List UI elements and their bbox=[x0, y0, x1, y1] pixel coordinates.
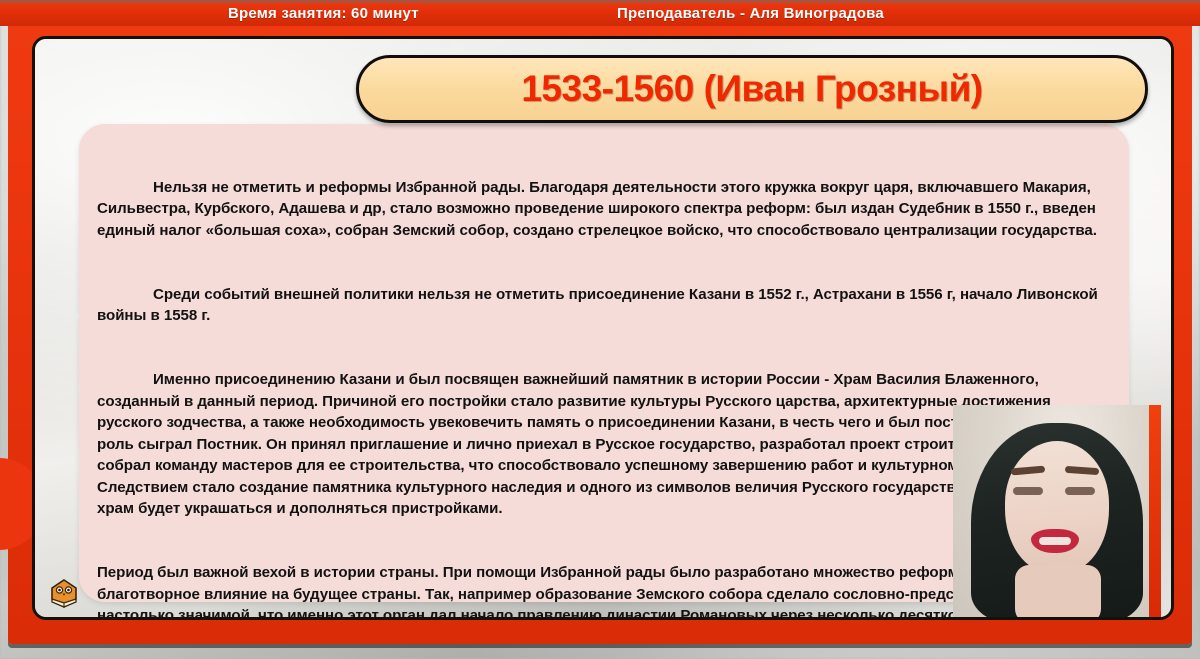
paragraph-2: Среди событий внешней политики нельзя не… bbox=[97, 284, 1113, 327]
presenter-eye-right bbox=[1065, 487, 1095, 495]
top-info-bar: Время занятия: 60 минут Преподаватель - … bbox=[0, 0, 1200, 26]
slide-title-pill: 1533-1560 (Иван Грозный) bbox=[356, 55, 1148, 123]
presenter-face bbox=[1005, 441, 1109, 573]
presenter-neck bbox=[1015, 565, 1101, 617]
webcam-frame-edge bbox=[1149, 405, 1161, 617]
presenter-eye-left bbox=[1013, 487, 1043, 495]
teacher-name-label: Преподаватель - Аля Виноградова bbox=[617, 5, 884, 22]
presenter-webcam-overlay[interactable] bbox=[953, 405, 1161, 617]
paragraph-1: Нельзя не отметить и реформы Избранной р… bbox=[97, 177, 1113, 241]
slide-screen: Время занятия: 60 минут Преподаватель - … bbox=[0, 0, 1200, 659]
slide-canvas: 1533-1560 (Иван Грозный) Нельзя не отмет… bbox=[32, 36, 1174, 620]
page-title: 1533-1560 (Иван Грозный) bbox=[521, 68, 982, 110]
lesson-time-label: Время занятия: 60 минут bbox=[228, 5, 419, 22]
owl-book-logo-icon bbox=[47, 577, 81, 611]
